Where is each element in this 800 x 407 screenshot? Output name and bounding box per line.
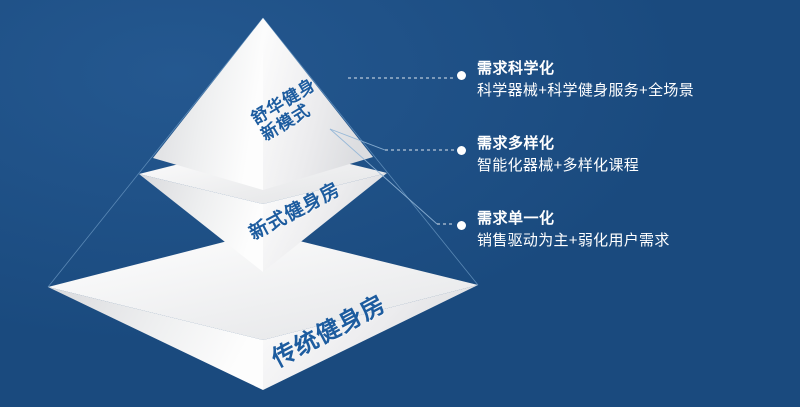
bullet-dot-icon <box>457 221 466 230</box>
bullet-dot-icon <box>457 71 466 80</box>
callout-title: 需求多样化 <box>477 133 639 155</box>
diagram-canvas: 舒华健身 新模式 新式健身房 传统健身房 需求科学化 科学器械+科学健身服务+全… <box>0 0 800 407</box>
callout-description: 科学器械+科学健身服务+全场景 <box>477 80 694 102</box>
callout-title: 需求科学化 <box>477 58 694 80</box>
callout-top[interactable]: 需求科学化 科学器械+科学健身服务+全场景 <box>477 58 694 102</box>
callout-middle[interactable]: 需求多样化 智能化器械+多样化课程 <box>477 133 639 177</box>
callout-bottom[interactable]: 需求单一化 销售驱动为主+弱化用户需求 <box>477 208 670 252</box>
bullet-dot-icon <box>457 146 466 155</box>
callout-description: 智能化器械+多样化课程 <box>477 155 639 177</box>
callout-title: 需求单一化 <box>477 208 670 230</box>
callout-description: 销售驱动为主+弱化用户需求 <box>477 230 670 252</box>
